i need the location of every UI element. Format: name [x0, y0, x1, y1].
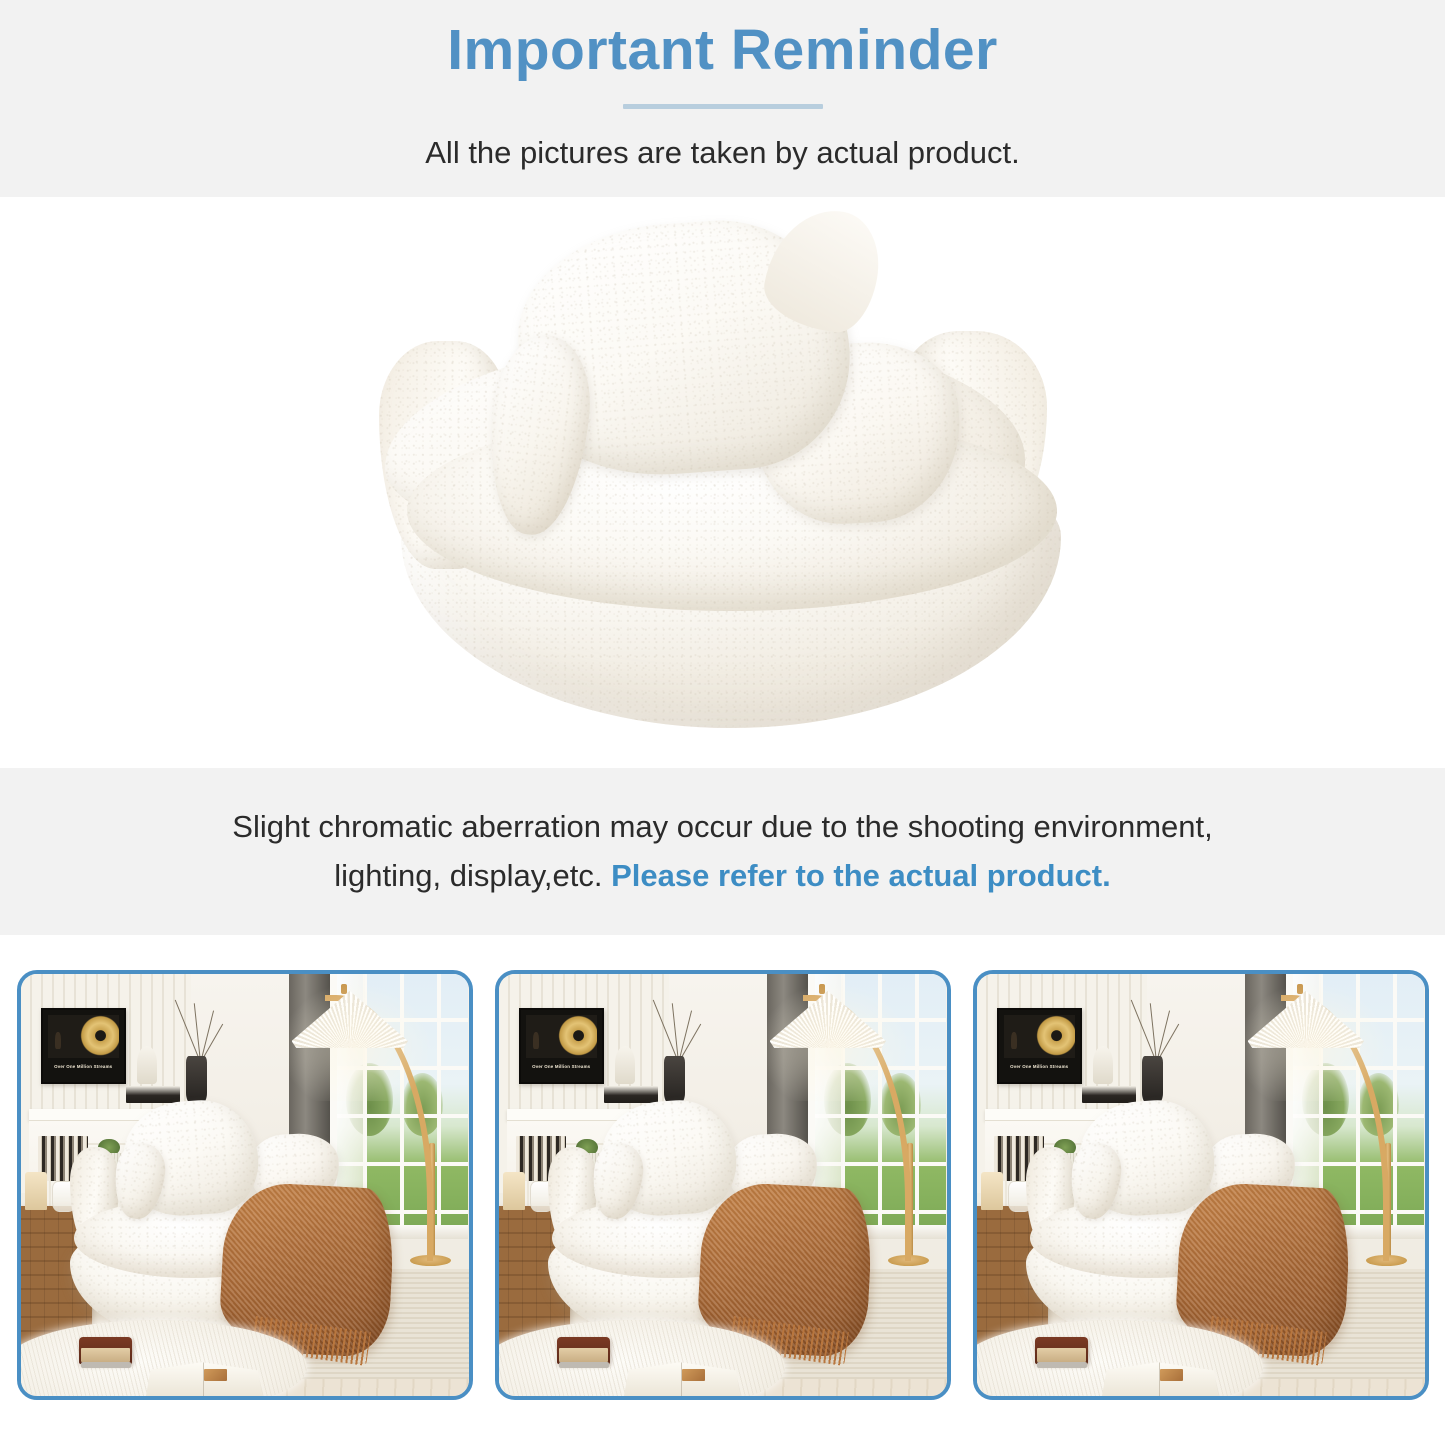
book-stack: [1082, 1086, 1136, 1103]
candle: [25, 1172, 47, 1210]
lamp-base: [888, 1255, 928, 1266]
disclaimer-line-2: lighting, display,etc. Please refer to t…: [334, 852, 1110, 900]
lamp-finial: [819, 984, 825, 994]
framed-gold-record-poster: Over One Million Streams: [41, 1008, 126, 1084]
title-divider: [623, 104, 823, 109]
lamp-finial: [341, 984, 347, 994]
hero-product-image: [0, 197, 1445, 768]
framed-gold-record-poster: Over One Million Streams: [997, 1008, 1082, 1084]
disclaimer-band: Slight chromatic aberration may occur du…: [0, 768, 1445, 935]
black-glass-vase: [186, 1056, 207, 1102]
radio-feet: [1037, 1362, 1087, 1368]
disclaimer-line-2-plain: lighting, display,etc.: [334, 858, 611, 893]
header-subtitle: All the pictures are taken by actual pro…: [425, 135, 1020, 171]
dried-branches: [177, 995, 222, 1063]
book-page-image: [204, 1369, 226, 1381]
marketing-page: Important Reminder All the pictures are …: [0, 0, 1445, 1445]
lamp-base: [1366, 1255, 1406, 1266]
poster-artwork: [526, 1015, 597, 1058]
poster-caption: Over One Million Streams: [1004, 1059, 1075, 1075]
radio-face: [559, 1348, 607, 1362]
ceramic-figurine: [137, 1046, 157, 1084]
page-title: Important Reminder: [447, 18, 998, 84]
dried-branches: [1133, 995, 1178, 1063]
radio-face: [81, 1348, 129, 1362]
ceramic-figurine: [615, 1046, 635, 1084]
thumbnail-strip: Over One Million Streams: [0, 935, 1445, 1445]
lamp-base: [410, 1255, 450, 1266]
lamp-pole: [907, 1143, 913, 1261]
hero-stage: [363, 213, 1083, 753]
framed-gold-record-poster: Over One Million Streams: [519, 1008, 604, 1084]
lamp-pole: [429, 1143, 435, 1261]
black-glass-vase: [1142, 1056, 1163, 1102]
lifestyle-thumbnail-2[interactable]: Over One Million Streams: [495, 970, 951, 1400]
disclaimer-line-1: Slight chromatic aberration may occur du…: [232, 803, 1212, 851]
header-band: Important Reminder All the pictures are …: [0, 0, 1445, 197]
lamp-pole: [1385, 1143, 1391, 1261]
room-scene: Over One Million Streams: [499, 974, 947, 1396]
room-scene: Over One Million Streams: [21, 974, 469, 1396]
book-stack: [604, 1086, 658, 1103]
disclaimer-accent-text: Please refer to the actual product.: [611, 858, 1111, 893]
black-glass-vase: [664, 1056, 685, 1102]
poster-artwork: [48, 1015, 119, 1058]
book-stack: [126, 1086, 180, 1103]
radio-face: [1037, 1348, 1085, 1362]
book-page-image: [682, 1369, 704, 1381]
room-scene: Over One Million Streams: [977, 974, 1425, 1396]
radio-feet: [559, 1362, 609, 1368]
candle: [981, 1172, 1003, 1210]
book-page-image: [1160, 1369, 1182, 1381]
ceramic-figurine: [1093, 1046, 1113, 1084]
poster-artwork: [1004, 1015, 1075, 1058]
lifestyle-thumbnail-1[interactable]: Over One Million Streams: [17, 970, 473, 1400]
radio-feet: [81, 1362, 131, 1368]
poster-caption: Over One Million Streams: [526, 1059, 597, 1075]
lamp-finial: [1297, 984, 1303, 994]
lifestyle-thumbnail-3[interactable]: Over One Million Streams: [973, 970, 1429, 1400]
poster-caption: Over One Million Streams: [48, 1059, 119, 1075]
dried-branches: [655, 995, 700, 1063]
candle: [503, 1172, 525, 1210]
